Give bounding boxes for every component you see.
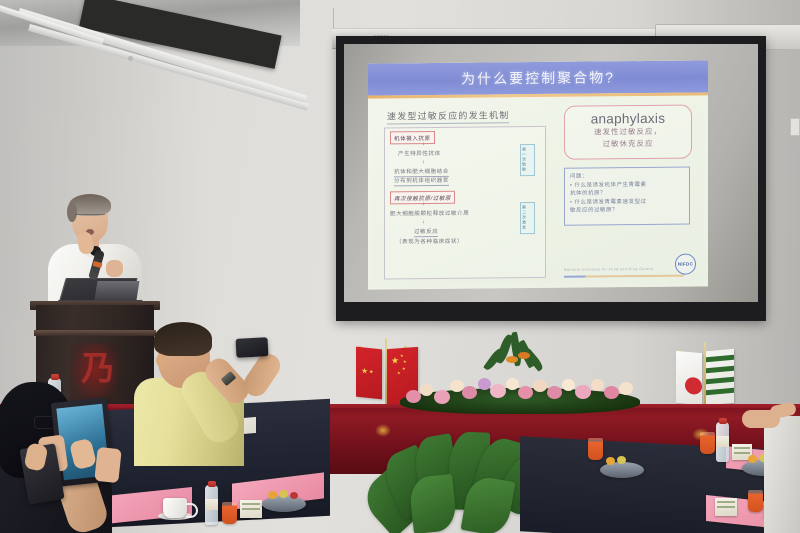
screen-pull-cord — [333, 8, 334, 30]
smartphone-icon[interactable] — [236, 337, 269, 358]
laptop-screen — [94, 281, 139, 300]
flower-arrangement — [400, 366, 640, 414]
flow-step-6: 过敏反应 — [414, 227, 438, 237]
flow-arrow-icon: ↓ — [422, 201, 425, 207]
slide-footer-rule — [564, 275, 684, 278]
nifdc-logo-icon: NIFDC — [675, 253, 696, 274]
flow-step-2: 产生特异性抗体 — [398, 149, 441, 157]
flow-arrow-icon: ↓ — [422, 219, 425, 225]
fruit-piece — [290, 492, 298, 499]
flow-side-tab-2: 第二次激发 — [520, 202, 535, 234]
bottle-label — [716, 436, 729, 447]
flag-striped — [706, 349, 734, 405]
fruit-plate — [600, 462, 644, 478]
slide-title-bar: 为什么要控制聚合物? — [368, 60, 708, 95]
projected-slide: 为什么要控制聚合物? 速发型过敏反应的发生机制 机体摄入抗原 ↓ 产生特异性抗体… — [368, 60, 708, 289]
juice-glass — [222, 502, 237, 524]
nifdc-logo-text: NIFDC — [678, 262, 693, 267]
hand-holding-tablet-2 — [94, 447, 121, 483]
podium-lip — [34, 330, 156, 336]
slide-footer-text: National Institutes for Food and Drug Co… — [564, 267, 654, 272]
bottle-cap — [208, 481, 216, 487]
flow-side-tab-2-label: 第二次激发 — [521, 203, 527, 232]
flow-step-5: 肥大细胞脱颗粒释放过敏介质 — [390, 209, 469, 218]
juice-glass — [700, 432, 715, 454]
flow-arrow-icon: ↓ — [422, 159, 425, 165]
mechanism-heading: 速发型过敏反应的发生机制 — [387, 108, 509, 124]
slide-body: 速发型过敏反应的发生机制 机体摄入抗原 ↓ 产生特异性抗体 ↓ 抗体和肥大细胞结… — [368, 96, 708, 289]
bottle-cap — [51, 374, 59, 380]
audience-person-yellow-shirt — [140, 318, 300, 458]
question-2-line2: 敏反应的过敏原？ — [570, 206, 684, 216]
flow-step-7: （表现为各种临床症状） — [396, 237, 463, 246]
speaker-other-hand — [106, 260, 123, 277]
flow-side-tab-1: 第一次致敏 — [520, 144, 535, 176]
audience-hand-right — [742, 402, 800, 444]
flow-side-tab-1-label: 第一次致敏 — [521, 145, 527, 174]
yellow-man-hair — [154, 322, 212, 356]
place-name-card — [715, 498, 737, 516]
flow-arrow-icon: ↓ — [422, 141, 425, 147]
bottle-label — [205, 499, 218, 510]
questions-box: 问题： • 什么是诱发机体产生青霉素 抗体的抗原？ • 什么是诱发青霉素速发型过… — [564, 167, 690, 226]
fruit-piece — [748, 455, 757, 463]
wall-switch[interactable] — [790, 118, 800, 136]
slide-title: 为什么要控制聚合物? — [461, 67, 615, 88]
fruit-piece — [617, 456, 626, 464]
fruit-piece — [279, 490, 288, 498]
flow-step-1: 机体摄入抗原 — [390, 131, 435, 144]
flag-china-left: ★ ★ — [356, 347, 382, 400]
ceiling-fixture — [128, 56, 133, 61]
anaphylaxis-term: anaphylaxis — [565, 111, 691, 127]
juice-glass — [748, 490, 763, 512]
anaphylaxis-translation-line2: 过敏休克反应 — [565, 138, 691, 150]
juice-glass — [588, 438, 603, 460]
place-name-card — [240, 500, 262, 518]
coffee-cup — [163, 498, 187, 518]
anaphylaxis-translation-line1: 速发性过敏反应， — [565, 127, 691, 139]
japan-sun-icon — [685, 377, 702, 395]
glasses-icon — [75, 214, 105, 222]
yellow-man-ear — [156, 354, 166, 367]
fruit-plate — [262, 496, 306, 512]
fruit-piece — [268, 491, 277, 499]
fruit-piece — [606, 457, 615, 465]
bottle-cap — [719, 418, 727, 424]
flow-step-3b: 分布到机体组织器官 — [394, 176, 449, 186]
flag-japan — [676, 351, 702, 405]
anaphylaxis-callout: anaphylaxis 速发性过敏反应， 过敏休克反应 — [564, 105, 692, 160]
conference-room-photo: screen 为什么要控制聚合物? 速发型过敏反应的发生机制 机体摄入抗原 ↓ … — [0, 0, 800, 533]
